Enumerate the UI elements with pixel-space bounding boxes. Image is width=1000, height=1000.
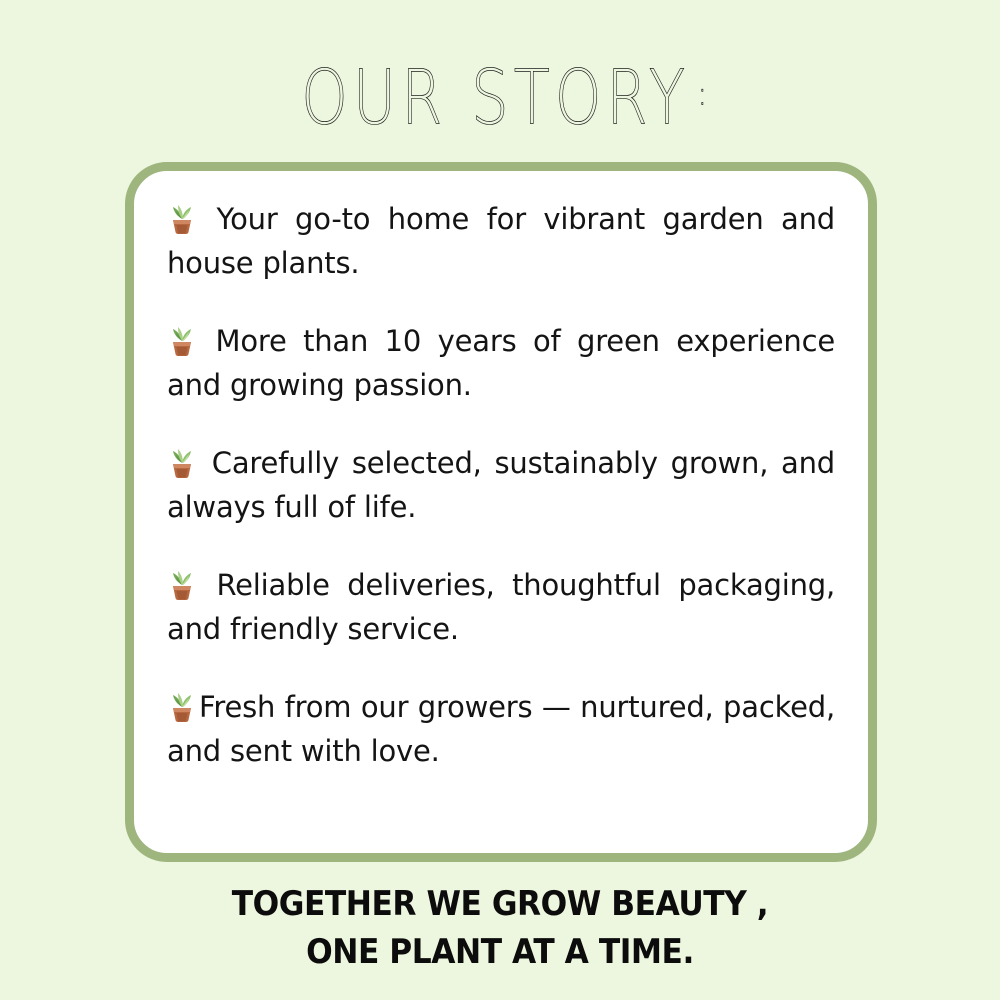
story-card-content: Your go-to home for vibrant garden and h… bbox=[167, 197, 835, 833]
page-title-colon: : bbox=[698, 52, 706, 137]
list-item-text: Carefully selected, sustainably grown, a… bbox=[167, 446, 835, 524]
potted-plant-icon bbox=[167, 447, 197, 479]
potted-plant-icon bbox=[167, 203, 197, 235]
list-item: Carefully selected, sustainably grown, a… bbox=[167, 441, 835, 529]
list-item-text: Fresh from our growers — nurtured, packe… bbox=[167, 690, 835, 768]
potted-plant-icon bbox=[167, 569, 197, 601]
tagline-line-1: TOGETHER WE GROW BEAUTY , bbox=[40, 880, 960, 928]
story-card: Your go-to home for vibrant garden and h… bbox=[125, 162, 877, 862]
page-title-text: OUR STORY bbox=[301, 55, 690, 140]
list-item-text: Reliable deliveries, thoughtful packagin… bbox=[167, 568, 835, 646]
tagline: TOGETHER WE GROW BEAUTY , ONE PLANT AT A… bbox=[0, 880, 1000, 976]
potted-plant-icon bbox=[167, 325, 197, 357]
list-item-text: More than 10 years of green experience a… bbox=[167, 324, 835, 402]
list-item: Reliable deliveries, thoughtful packagin… bbox=[167, 563, 835, 651]
tagline-line-2: ONE PLANT AT A TIME. bbox=[40, 928, 960, 976]
list-item-text: Your go-to home for vibrant garden and h… bbox=[167, 202, 835, 280]
page-title: OUR STORY: bbox=[0, 52, 1000, 132]
potted-plant-icon bbox=[167, 691, 197, 723]
poster-canvas: OUR STORY: Your go-to home for vibra bbox=[0, 0, 1000, 1000]
list-item: Fresh from our growers — nurtured, packe… bbox=[167, 685, 835, 773]
list-item: Your go-to home for vibrant garden and h… bbox=[167, 197, 835, 285]
list-item: More than 10 years of green experience a… bbox=[167, 319, 835, 407]
